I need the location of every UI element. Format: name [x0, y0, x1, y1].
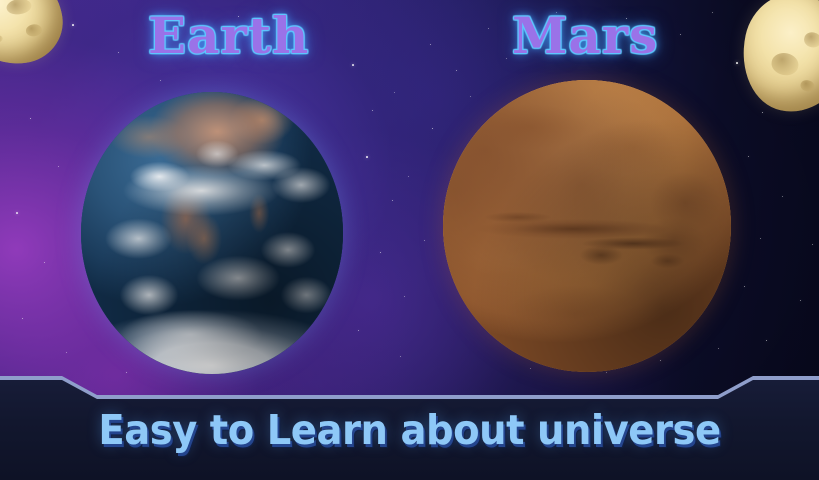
planet-mars[interactable] [443, 80, 731, 372]
planet-title-earth: Earth [148, 6, 309, 65]
earth-limb-shading [81, 92, 343, 374]
planet-earth[interactable] [81, 92, 343, 374]
crater [803, 31, 819, 48]
crater [0, 35, 3, 44]
bottom-banner: Easy to Learn about universe [0, 376, 819, 480]
mars-limb-shading [443, 80, 731, 372]
crater [770, 51, 801, 77]
crater [25, 23, 43, 37]
crater [800, 79, 816, 93]
screenshot-canvas: Earth Mars Easy to Learn about universe [0, 0, 819, 480]
crater [6, 0, 33, 16]
banner-tagline: Easy to Learn about universe [25, 406, 795, 454]
planet-title-mars: Mars [512, 6, 658, 65]
